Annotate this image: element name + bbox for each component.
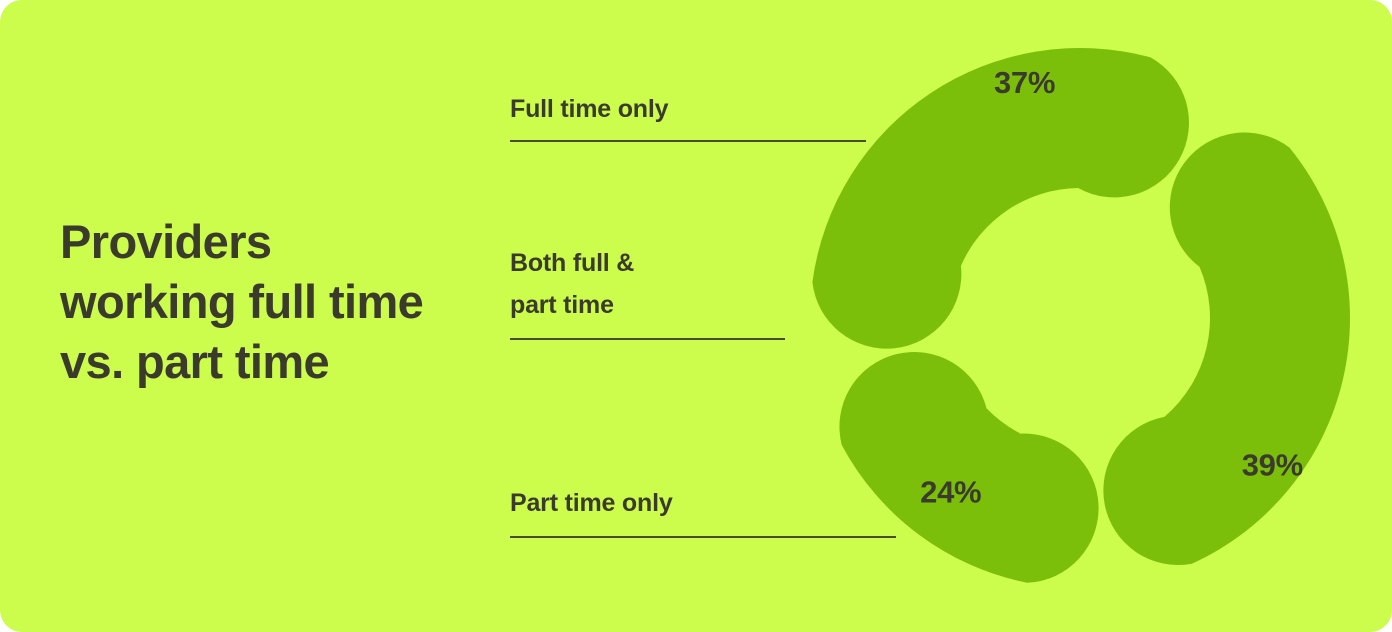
- donut-slice-group: [812, 48, 1350, 583]
- donut-slice-value: 39%: [1242, 447, 1303, 482]
- infographic-card: Providers working full time vs. part tim…: [0, 0, 1392, 632]
- donut-chart-svg: 39%24%37%: [800, 38, 1360, 598]
- legend-item-both-full-and-part-time: Both full & part time: [510, 242, 785, 340]
- donut-slice[interactable]: [1103, 133, 1350, 566]
- donut-slice-value: 37%: [994, 65, 1055, 100]
- page-title: Providers working full time vs. part tim…: [60, 212, 480, 392]
- donut-slice[interactable]: [839, 352, 1098, 583]
- legend-item-label: Both full & part time: [510, 242, 785, 326]
- donut-chart: 39%24%37%: [800, 38, 1360, 598]
- donut-slice-value: 24%: [920, 475, 981, 510]
- legend-divider: [510, 338, 785, 340]
